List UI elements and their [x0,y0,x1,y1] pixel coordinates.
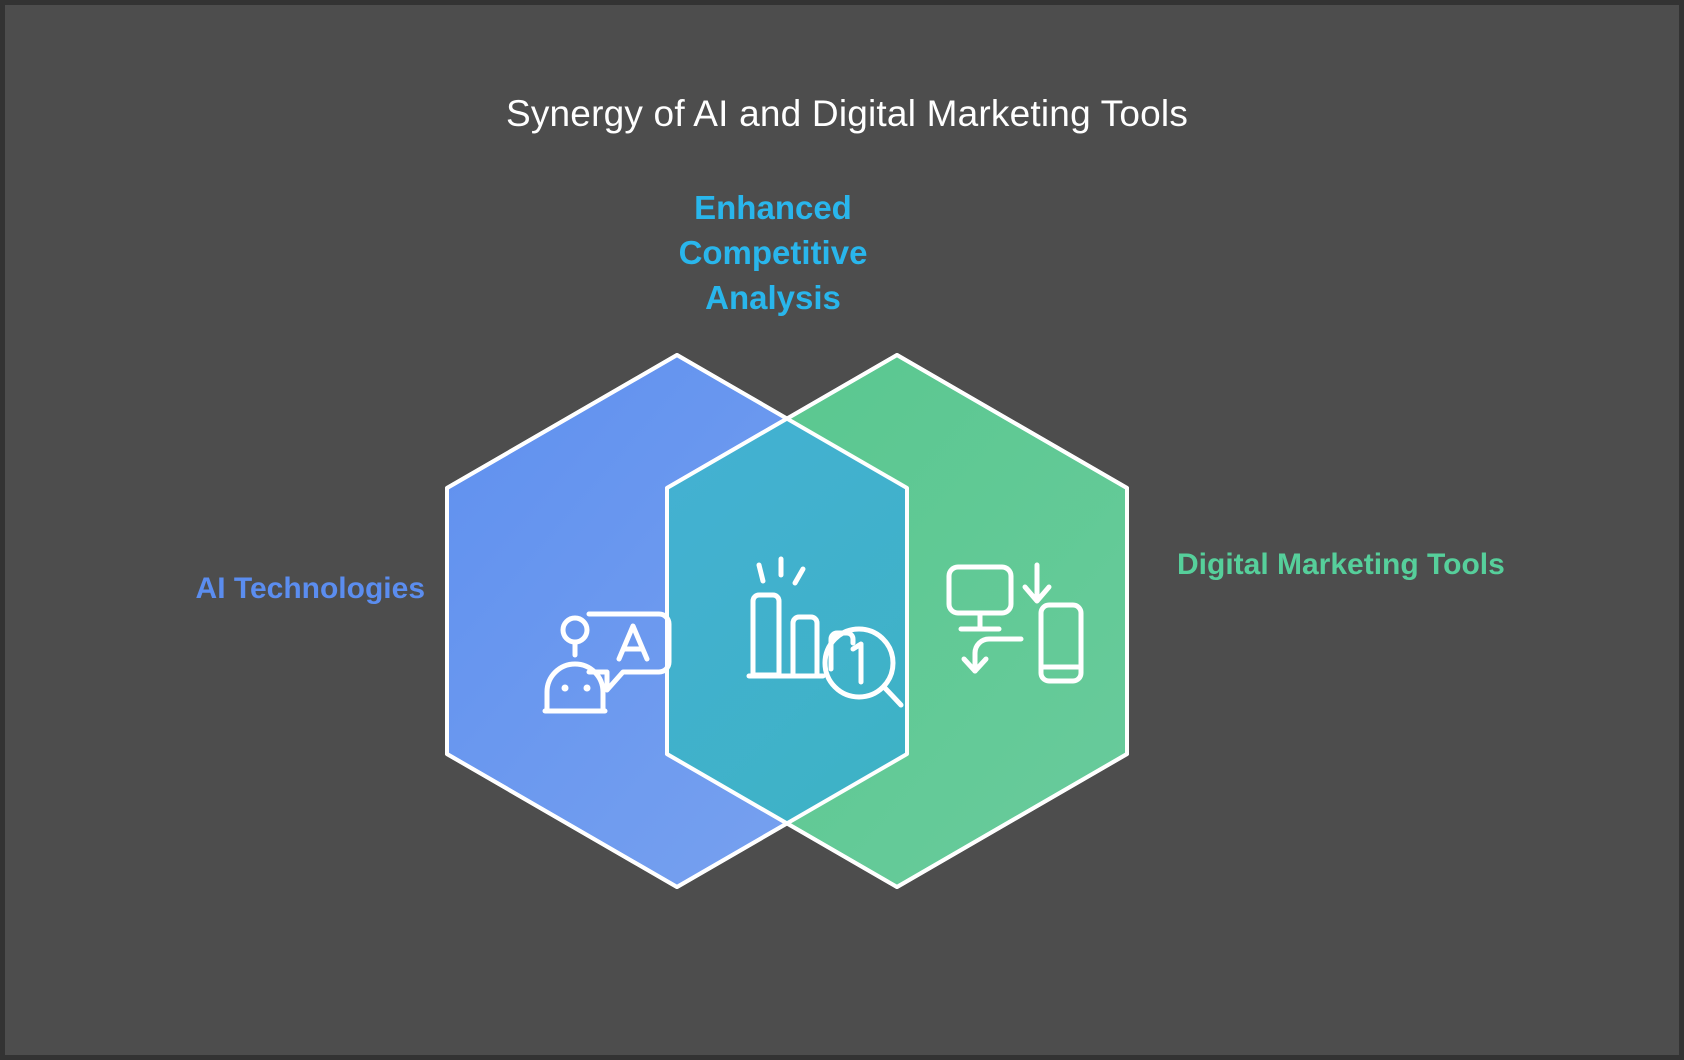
robot-eye-left [562,685,569,692]
set-label-ai-technologies: AI Technologies [65,568,425,610]
page-title: Synergy of AI and Digital Marketing Tool… [5,93,1684,135]
intersection-label: Enhanced Competitive Analysis [593,185,953,320]
intersection-label-line-2: Competitive [593,230,953,275]
robot-eye-right [584,685,591,692]
diagram-canvas: Synergy of AI and Digital Marketing Tool… [0,0,1684,1060]
intersection-label-line-1: Enhanced [593,185,953,230]
intersection-label-line-3: Analysis [593,275,953,320]
venn-hexagon-diagram [435,345,1259,925]
